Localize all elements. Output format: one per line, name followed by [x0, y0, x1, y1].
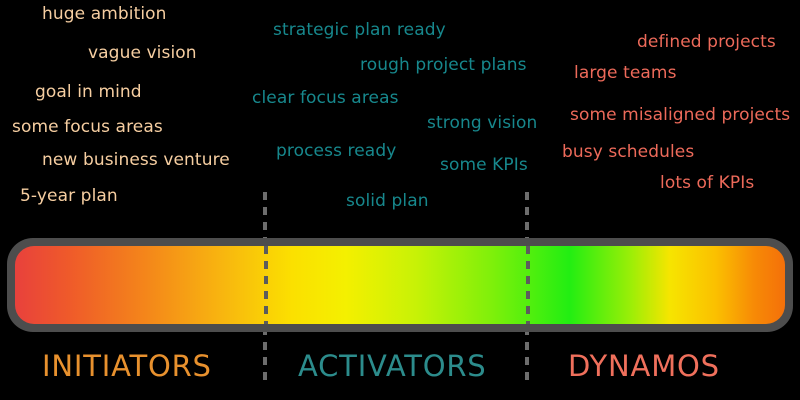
word-dynamos-4: lots of KPIs [660, 175, 754, 192]
word-dynamos-2: some misaligned projects [570, 107, 790, 124]
word-initiators-3: some focus areas [12, 119, 163, 136]
word-initiators-2: goal in mind [35, 84, 142, 101]
spectrum-gradient-fill [15, 246, 785, 324]
word-activators-6: solid plan [346, 193, 429, 210]
bar-divider-left [264, 246, 268, 324]
category-label-dynamos: DYNAMOS [568, 352, 720, 381]
word-initiators-4: new business venture [42, 152, 230, 169]
word-activators-0: strategic plan ready [273, 22, 446, 39]
word-dynamos-0: defined projects [637, 34, 776, 51]
word-dynamos-3: busy schedules [562, 144, 694, 161]
word-activators-5: some KPIs [440, 157, 528, 174]
word-initiators-1: vague vision [88, 45, 197, 62]
word-activators-4: process ready [276, 143, 396, 160]
category-label-initiators: INITIATORS [42, 352, 212, 381]
word-dynamos-1: large teams [574, 65, 677, 82]
category-label-activators: ACTIVATORS [298, 352, 487, 381]
bar-divider-right [526, 246, 530, 324]
spectrum-bar [7, 238, 793, 332]
word-activators-2: clear focus areas [252, 90, 399, 107]
word-initiators-0: huge ambition [42, 6, 167, 23]
word-activators-1: rough project plans [360, 57, 527, 74]
word-activators-3: strong vision [427, 115, 537, 132]
word-initiators-5: 5-year plan [20, 188, 118, 205]
spectrum-infographic: huge ambitionvague visiongoal in mindsom… [0, 0, 800, 400]
